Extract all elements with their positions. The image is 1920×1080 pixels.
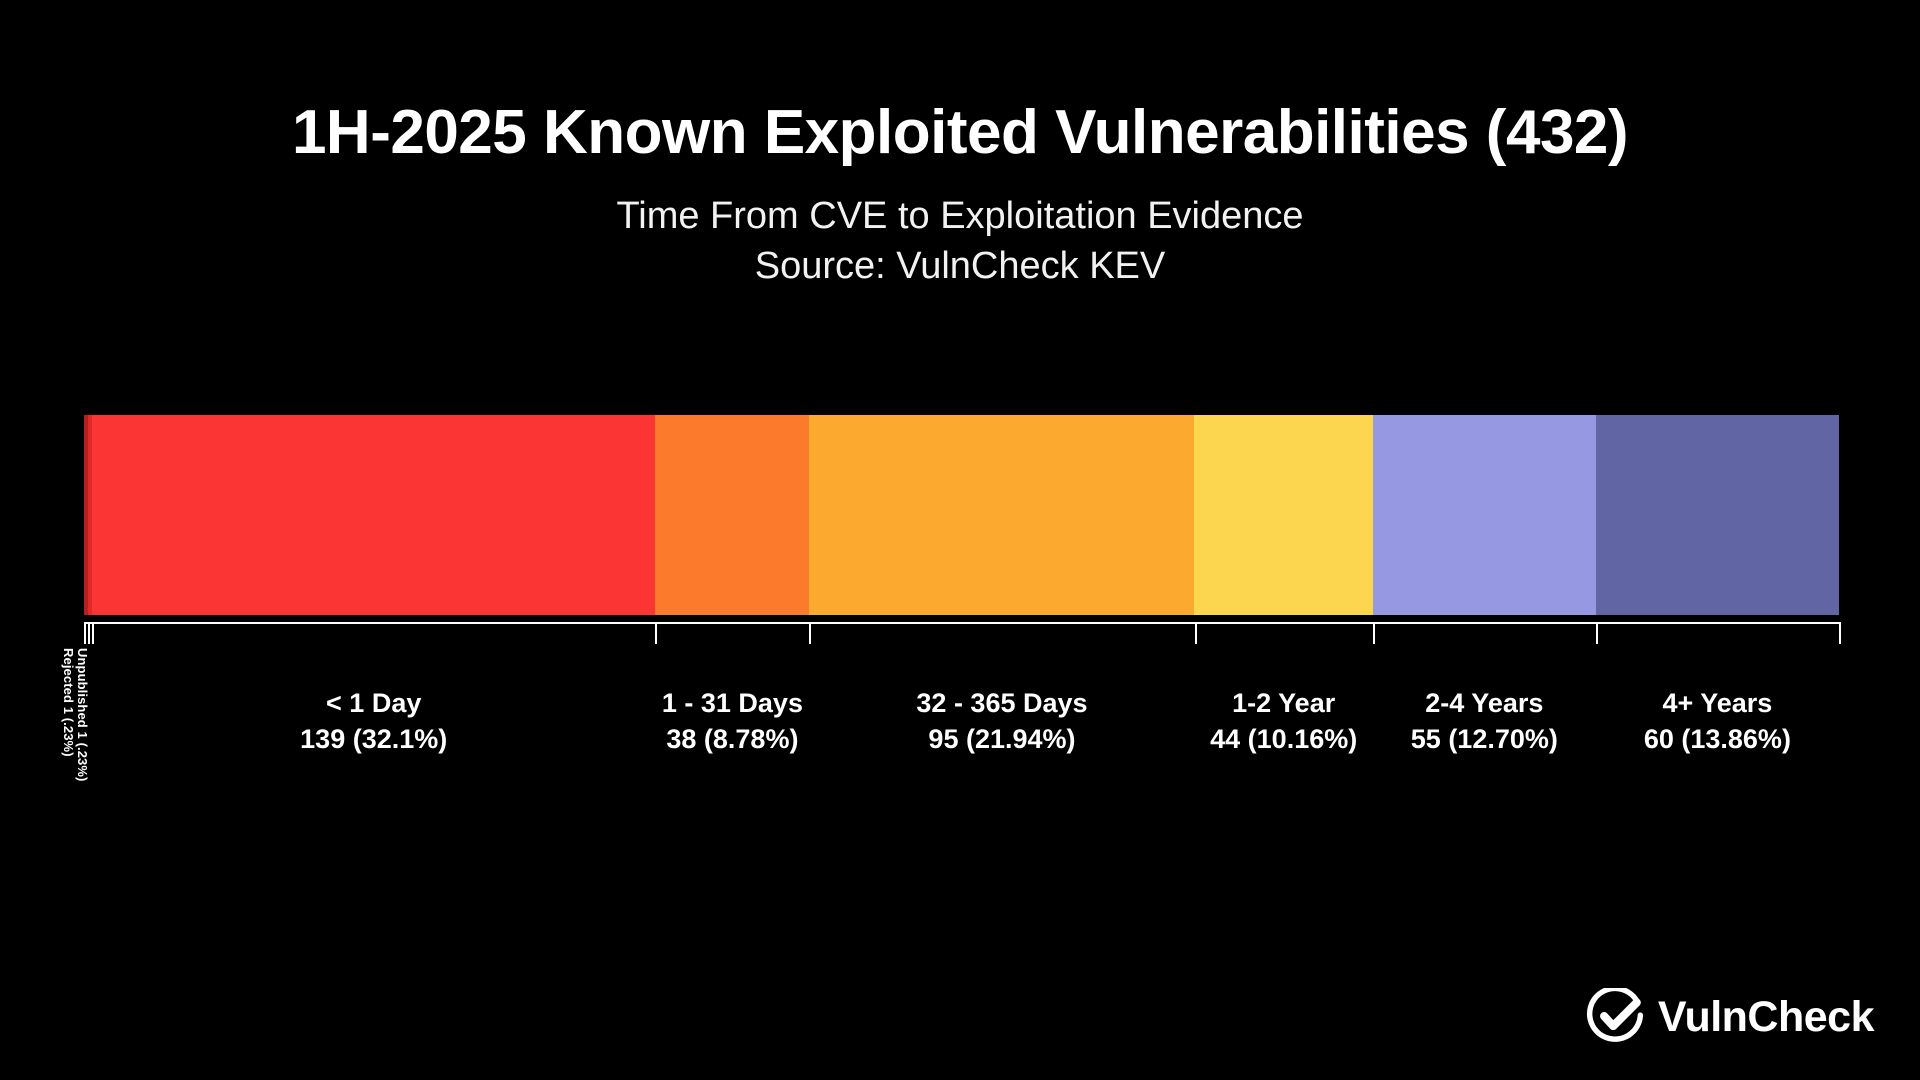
- page-title: 1H-2025 Known Exploited Vulnerabilities …: [0, 0, 1920, 165]
- axis-tick: [84, 622, 86, 644]
- vulncheck-logo: VulnCheck: [1586, 988, 1874, 1046]
- bar-segment[interactable]: [1194, 415, 1372, 615]
- bar-segment[interactable]: [809, 415, 1194, 615]
- category-value: 95 (21.94%): [916, 721, 1087, 757]
- check-circle-icon: [1586, 988, 1644, 1046]
- category-name: 1 - 31 Days: [662, 685, 803, 721]
- category-value: 44 (10.16%): [1210, 721, 1357, 757]
- axis-line: [84, 622, 1839, 624]
- category-name: < 1 Day: [300, 685, 447, 721]
- bar-segment[interactable]: [1596, 415, 1839, 615]
- category-value: 38 (8.78%): [662, 721, 803, 757]
- logo-wordmark: VulnCheck: [1658, 993, 1874, 1042]
- category-value: 60 (13.86%): [1644, 721, 1791, 757]
- chart-header: 1H-2025 Known Exploited Vulnerabilities …: [0, 0, 1920, 291]
- category-name: 2-4 Years: [1411, 685, 1558, 721]
- category-label: 32 - 365 Days95 (21.94%): [916, 685, 1087, 758]
- axis-tick: [92, 622, 94, 644]
- stacked-bar: [84, 415, 1839, 615]
- category-label-group: < 1 Day139 (32.1%)1 - 31 Days38 (8.78%)3…: [84, 685, 1839, 775]
- category-name: 1-2 Year: [1210, 685, 1357, 721]
- chart-plot-area: [84, 415, 1839, 615]
- category-name: 4+ Years: [1644, 685, 1791, 721]
- chart-subtitle: Time From CVE to Exploitation Evidence: [0, 165, 1920, 241]
- category-label: < 1 Day139 (32.1%): [300, 685, 447, 758]
- axis-tick: [809, 622, 811, 644]
- axis-tick: [88, 622, 90, 644]
- bar-segment[interactable]: [1373, 415, 1596, 615]
- bar-segment[interactable]: [655, 415, 809, 615]
- bar-segment[interactable]: [92, 415, 655, 615]
- category-name: 32 - 365 Days: [916, 685, 1087, 721]
- category-label: 1 - 31 Days38 (8.78%): [662, 685, 803, 758]
- axis-tick: [1596, 622, 1598, 644]
- category-label: 2-4 Years55 (12.70%): [1411, 685, 1558, 758]
- category-value: 55 (12.70%): [1411, 721, 1558, 757]
- category-label: 4+ Years60 (13.86%): [1644, 685, 1791, 758]
- category-value: 139 (32.1%): [300, 721, 447, 757]
- axis-tick: [1195, 622, 1197, 644]
- rotated-segment-label: Rejected 1 (.23%): [62, 648, 75, 848]
- axis-tick: [1373, 622, 1375, 644]
- axis-tick: [655, 622, 657, 644]
- category-label: 1-2 Year44 (10.16%): [1210, 685, 1357, 758]
- axis-tick: [1839, 622, 1841, 644]
- chart-source: Source: VulnCheck KEV: [0, 241, 1920, 291]
